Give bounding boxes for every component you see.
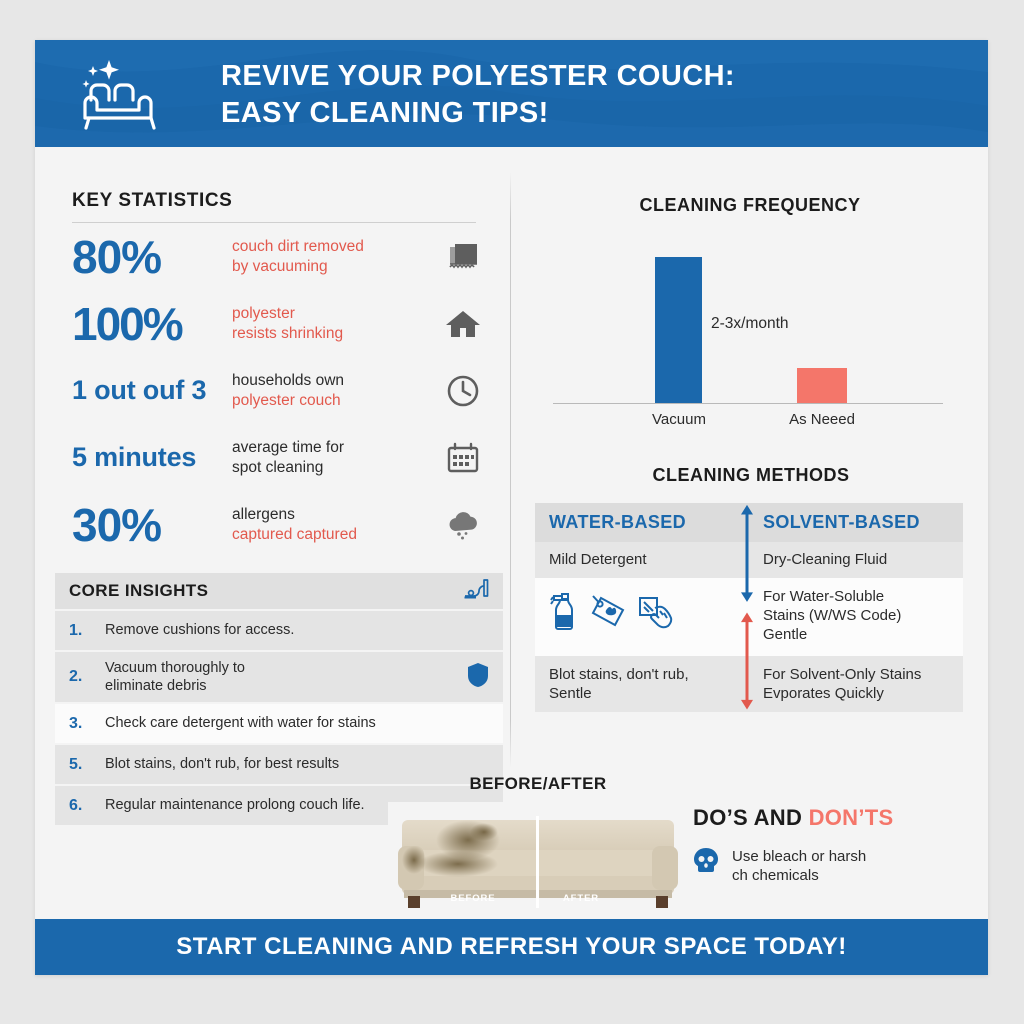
house-icon <box>434 308 492 340</box>
cleaning-frequency-chart: CLEANING FREQUENCY 2-3x/month Vacuum As … <box>535 195 965 428</box>
header-title-line1: REVIVE YOUR POLYESTER COUCH: <box>221 60 735 92</box>
methods-icon-group <box>549 587 735 638</box>
methods-cell-right-2-line1: For Water-Soluble <box>763 588 884 605</box>
methods-cell-right-3-line2: Evporates Quickly <box>763 685 884 702</box>
core-insights-title: CORE INSIGHTS <box>69 581 208 601</box>
methods-cell-right-1: Dry-Cleaning Fluid <box>749 542 963 578</box>
chart-xtick-vacuum: Vacuum <box>633 411 725 428</box>
dos-text-1-line2: ch chemicals <box>732 867 819 884</box>
stat-row-2: 100% polyester resists shrinking <box>72 290 492 357</box>
core-insight-text-2-line1: Vacuum thoroughly to <box>105 660 245 676</box>
couch-comparison-illustration <box>388 802 688 920</box>
vacuum-cleaner-icon <box>463 578 489 605</box>
chart-plot-area: 2-3x/month Vacuum As Neeed <box>535 238 965 428</box>
spray-bottle-icon <box>549 591 579 638</box>
methods-col-header-water: WATER-BASED <box>535 503 749 542</box>
wiping-hand-icon <box>637 594 675 635</box>
core-insight-number-4: 5. <box>69 756 105 774</box>
dos-and-donts-text-1: Use bleach or harsh ch chemicals <box>732 847 866 885</box>
stat-text-4-line2: spot cleaning <box>232 458 434 477</box>
cleaning-methods-title: CLEANING METHODS <box>535 465 967 486</box>
dust-cloud-icon <box>434 509 492 541</box>
stat-text-3-line1: households own <box>232 371 434 390</box>
header-title-line2: EASY CLEANING TIPS! <box>221 95 974 132</box>
stat-number-1: 80% <box>72 234 232 280</box>
methods-cell-left-3-line2: Sentle <box>549 685 592 702</box>
methods-cell-left-1: Mild Detergent <box>535 542 749 578</box>
stat-text-2-line1: polyester <box>232 304 434 323</box>
header-title: REVIVE YOUR POLYESTER COUCH: EASY CLEANI… <box>221 58 974 132</box>
core-insight-text-2: Vacuum thoroughly to eliminate debris <box>105 659 455 695</box>
stat-number-4: 5 minutes <box>72 444 232 471</box>
chart-annotation: 2-3x/month <box>711 315 789 333</box>
stat-text-1-line2: by vacuuming <box>232 257 434 276</box>
core-insight-text-1: Remove cushions for access. <box>105 621 455 639</box>
stat-text-4: average time for spot cleaning <box>232 438 434 477</box>
stat-row-1: 80% couch dirt removed by vacuuming <box>72 223 492 290</box>
methods-cell-left-3: Blot stains, don't rub, Sentle <box>535 656 749 712</box>
stat-text-4-line1: average time for <box>232 438 434 457</box>
core-insight-number-5: 6. <box>69 797 105 815</box>
methods-row-3: Blot stains, don't rub, Sentle For Solve… <box>535 656 963 712</box>
calendar-icon <box>434 442 492 474</box>
methods-cell-left-3-line1: Blot stains, don't rub, <box>549 666 689 683</box>
stat-row-3: 1 out ouf 3 households own polyester cou… <box>72 357 492 424</box>
stat-text-3-line2: polyester couch <box>232 391 434 410</box>
core-insight-text-2-line2: eliminate debris <box>105 678 207 694</box>
fabric-swatch-icon <box>434 241 492 273</box>
core-insights-header: CORE INSIGHTS <box>55 573 503 609</box>
methods-cell-right-2: For Water-Soluble Stains (W/WS Code) Gen… <box>749 578 963 656</box>
cleaning-methods-table: WATER-BASED SOLVENT-BASED Mild Detergent… <box>535 503 963 712</box>
dos-and-donts-item-1: Use bleach or harsh ch chemicals <box>693 847 973 885</box>
skull-icon <box>693 847 719 880</box>
sparkling-couch-icon <box>69 56 175 132</box>
dos-text-1-line1: Use bleach or harsh <box>732 848 866 865</box>
clock-icon <box>434 374 492 408</box>
before-after-image: BEFORE AFTER <box>388 802 688 920</box>
before-label: BEFORE <box>438 893 508 904</box>
stat-text-3: households own polyester couch <box>232 371 434 410</box>
methods-cell-right-3: For Solvent-Only Stains Evporates Quickl… <box>749 656 963 712</box>
footer-text: START CLEANING AND REFRESH YOUR SPACE TO… <box>176 933 847 961</box>
core-insight-number-1: 1. <box>69 622 105 640</box>
infographic-card: REVIVE YOUR POLYESTER COUCH: EASY CLEANI… <box>35 40 988 975</box>
methods-header-row: WATER-BASED SOLVENT-BASED <box>535 503 963 542</box>
core-insight-number-3: 3. <box>69 715 105 733</box>
dos-and-donts-section: DO’S AND DON’TS Use bleach or harsh ch c… <box>693 805 973 885</box>
key-statistics-section: KEY STATISTICS 80% couch dirt removed by… <box>72 190 492 558</box>
before-after-title: BEFORE/AFTER <box>388 774 688 794</box>
footer-banner: START CLEANING AND REFRESH YOUR SPACE TO… <box>35 919 988 975</box>
core-insight-row-1: 1. Remove cushions for access. <box>55 611 503 650</box>
core-insight-text-3: Check care detergent with water for stai… <box>105 714 455 732</box>
stat-text-1: couch dirt removed by vacuuming <box>232 237 434 276</box>
core-insight-row-3: 3. Check care detergent with water for s… <box>55 704 503 743</box>
header-banner: REVIVE YOUR POLYESTER COUCH: EASY CLEANI… <box>35 40 988 147</box>
cleaning-methods-section: CLEANING METHODS WATER-BASED SOLVENT-BAS… <box>535 465 967 712</box>
before-after-section: BEFORE/AFTER <box>388 774 688 920</box>
chart-xtick-as-needed: As Neeed <box>775 411 869 428</box>
methods-cell-right-2-line3: Gentle <box>763 626 807 643</box>
stat-number-2: 100% <box>72 301 232 347</box>
dos-title-dark: DO’S AND <box>693 805 809 830</box>
methods-col-header-solvent: SOLVENT-BASED <box>749 503 963 542</box>
core-insight-number-2: 2. <box>69 668 105 686</box>
chart-title: CLEANING FREQUENCY <box>535 195 965 216</box>
key-statistics-title: KEY STATISTICS <box>72 190 492 212</box>
methods-cell-right-3-line1: For Solvent-Only Stains <box>763 666 921 683</box>
stat-number-3: 1 out ouf 3 <box>72 377 232 404</box>
dos-and-donts-title: DO’S AND DON’TS <box>693 805 973 831</box>
chart-x-axis <box>553 403 943 404</box>
stat-text-5-line2: captured captured <box>232 525 434 544</box>
core-insight-text-4: Blot stains, don't rub, for best results <box>105 755 455 773</box>
after-label: AFTER <box>546 893 616 904</box>
column-divider <box>510 172 511 768</box>
stat-text-5-line1: allergens <box>232 505 434 524</box>
methods-row-1: Mild Detergent Dry-Cleaning Fluid <box>535 542 963 578</box>
dos-title-red: DON’TS <box>809 805 894 830</box>
chart-bar-as-needed <box>797 368 847 403</box>
chart-bar-vacuum <box>655 257 702 403</box>
stat-text-2-line2: resists shrinking <box>232 324 434 343</box>
stat-text-5: allergens captured captured <box>232 505 434 544</box>
core-insight-row-2: 2. Vacuum thoroughly to eliminate debris <box>55 652 503 702</box>
methods-cell-right-2-line2: Stains (W/WS Code) <box>763 607 901 624</box>
care-tag-icon <box>589 594 627 635</box>
stat-row-4: 5 minutes average time for spot cleaning <box>72 424 492 491</box>
methods-row-2: For Water-Soluble Stains (W/WS Code) Gen… <box>535 578 963 656</box>
stat-row-5: 30% allergens captured captured <box>72 491 492 558</box>
methods-cell-left-2 <box>535 578 749 656</box>
stat-text-2: polyester resists shrinking <box>232 304 434 343</box>
stat-text-1-line1: couch dirt removed <box>232 237 434 256</box>
stat-number-5: 30% <box>72 502 232 548</box>
shield-icon <box>455 662 489 692</box>
